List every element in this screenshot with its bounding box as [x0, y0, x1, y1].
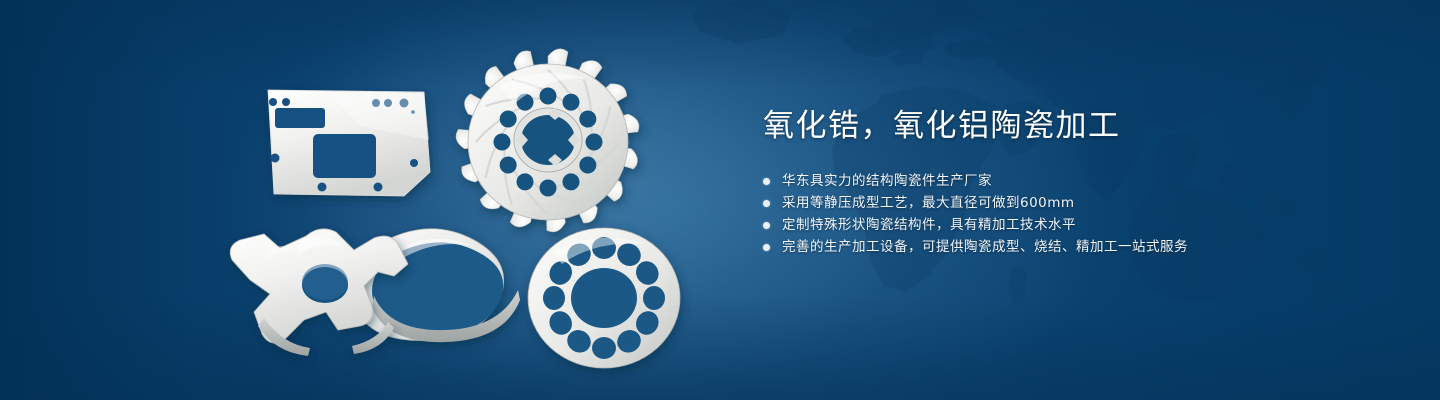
bullet-dot-icon	[763, 178, 770, 185]
product-photo-group	[0, 0, 720, 400]
bullet-dot-icon	[763, 200, 770, 207]
ceramic-impeller-wheel	[455, 49, 641, 234]
feature-list: 华东具实力的结构陶瓷件生产厂家 采用等静压成型工艺，最大直径可做到600mm 定…	[763, 170, 1323, 258]
list-item-label: 华东具实力的结构陶瓷件生产厂家	[782, 170, 992, 192]
list-item-label: 完善的生产加工设备，可提供陶瓷成型、烧结、精加工一站式服务	[782, 236, 1188, 258]
list-item: 采用等静压成型工艺，最大直径可做到600mm	[763, 192, 1323, 214]
page-title: 氧化锆，氧化铝陶瓷加工	[763, 106, 1323, 146]
banner-copy: 氧化锆，氧化铝陶瓷加工 华东具实力的结构陶瓷件生产厂家 采用等静压成型工艺，最大…	[763, 106, 1323, 258]
list-item: 完善的生产加工设备，可提供陶瓷成型、烧结、精加工一站式服务	[763, 236, 1323, 258]
ceramic-hole-ring-disc	[528, 228, 680, 368]
bullet-dot-icon	[763, 222, 770, 229]
list-item: 定制特殊形状陶瓷结构件，具有精加工技术水平	[763, 214, 1323, 236]
list-item: 华东具实力的结构陶瓷件生产厂家	[763, 170, 1323, 192]
list-item-label: 采用等静压成型工艺，最大直径可做到600mm	[782, 192, 1075, 214]
ceramic-machined-plate	[268, 90, 430, 196]
bullet-dot-icon	[763, 244, 770, 251]
hero-banner: 氧化锆，氧化铝陶瓷加工 华东具实力的结构陶瓷件生产厂家 采用等静压成型工艺，最大…	[0, 0, 1440, 400]
list-item-label: 定制特殊形状陶瓷结构件，具有精加工技术水平	[782, 214, 1076, 236]
